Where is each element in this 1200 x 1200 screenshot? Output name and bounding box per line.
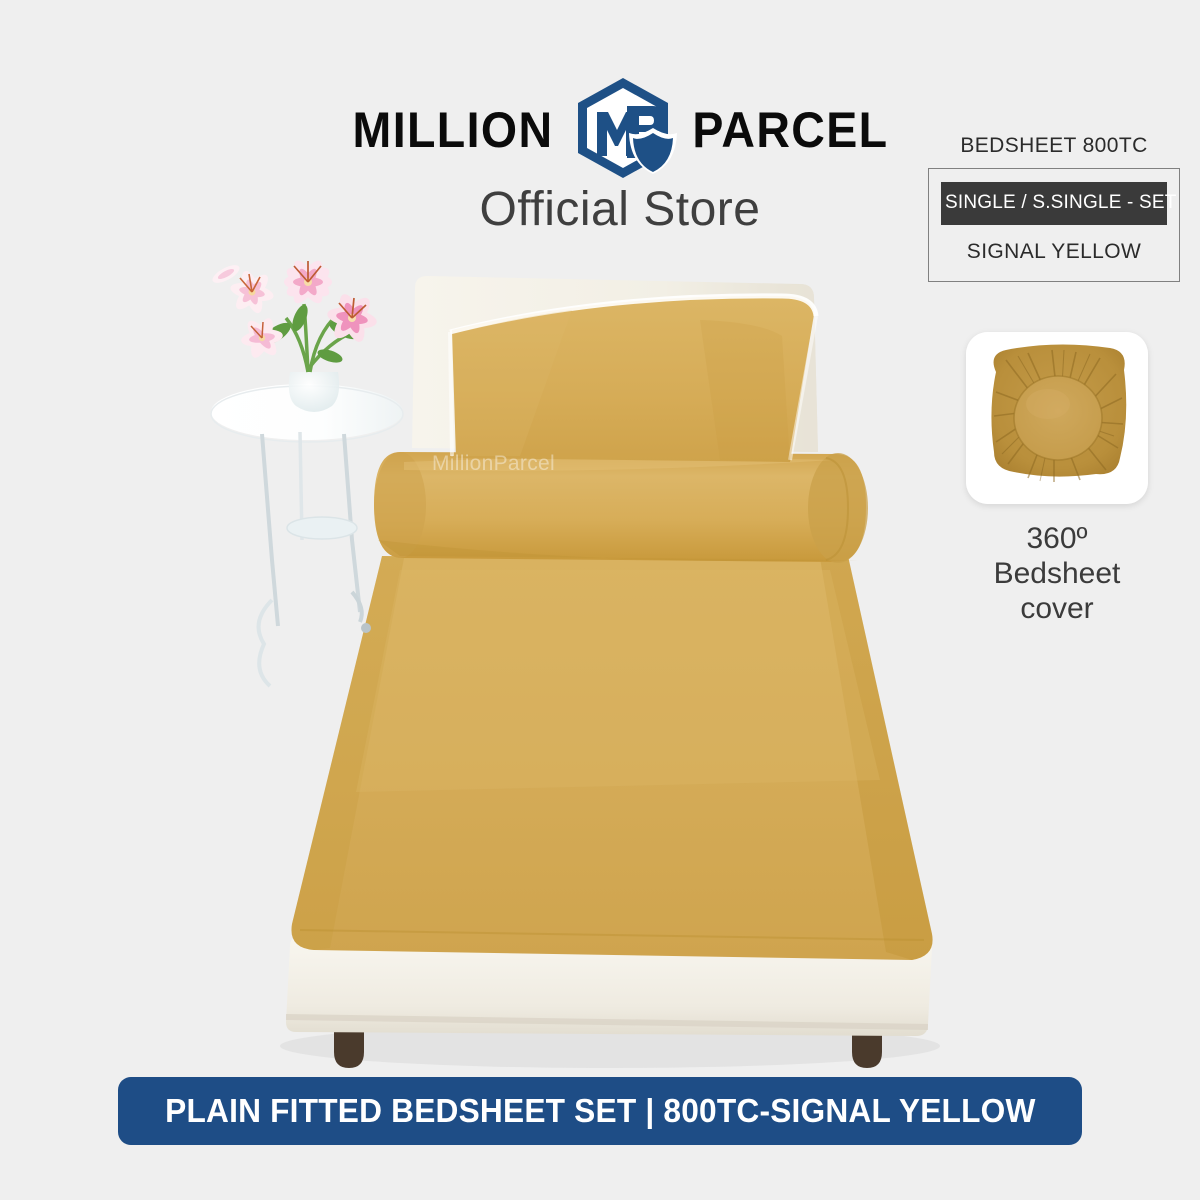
size-variant-badge: SINGLE / S.SINGLE - SET <box>941 182 1167 225</box>
color-name-label: SIGNAL YELLOW <box>941 225 1167 267</box>
official-store-subtitle: Official Store <box>330 182 910 237</box>
fitted-sheet-thumbnail <box>966 332 1148 504</box>
brand-header: MILLION PARCEL Official Store <box>330 72 910 252</box>
feature-caption-line-3: cover <box>966 592 1148 627</box>
feature-highlight: 360º Bedsheet cover <box>966 332 1148 626</box>
brand-logo-row: MILLION PARCEL <box>330 90 910 170</box>
mp-shield-hexagon-logo-icon <box>565 72 681 188</box>
watermark-text: MillionParcel <box>432 452 555 476</box>
product-title-text: PLAIN FITTED BEDSHEET SET | 800TC-SIGNAL… <box>165 1092 1035 1130</box>
feature-caption: 360º Bedsheet cover <box>966 522 1148 626</box>
product-image-canvas: MillionParcel MILLION <box>0 0 1200 1200</box>
variant-info-box: SINGLE / S.SINGLE - SET SIGNAL YELLOW <box>928 168 1180 282</box>
feature-caption-line-2: Bedsheet <box>966 557 1148 592</box>
product-info-panel: BEDSHEET 800TC SINGLE / S.SINGLE - SET S… <box>928 134 1180 282</box>
brand-name-left: MILLION <box>352 105 553 155</box>
product-type-label: BEDSHEET 800TC <box>928 134 1180 158</box>
product-title-banner: PLAIN FITTED BEDSHEET SET | 800TC-SIGNAL… <box>118 1077 1082 1145</box>
brand-name-right: PARCEL <box>692 105 888 155</box>
feature-caption-line-1: 360º <box>966 522 1148 557</box>
